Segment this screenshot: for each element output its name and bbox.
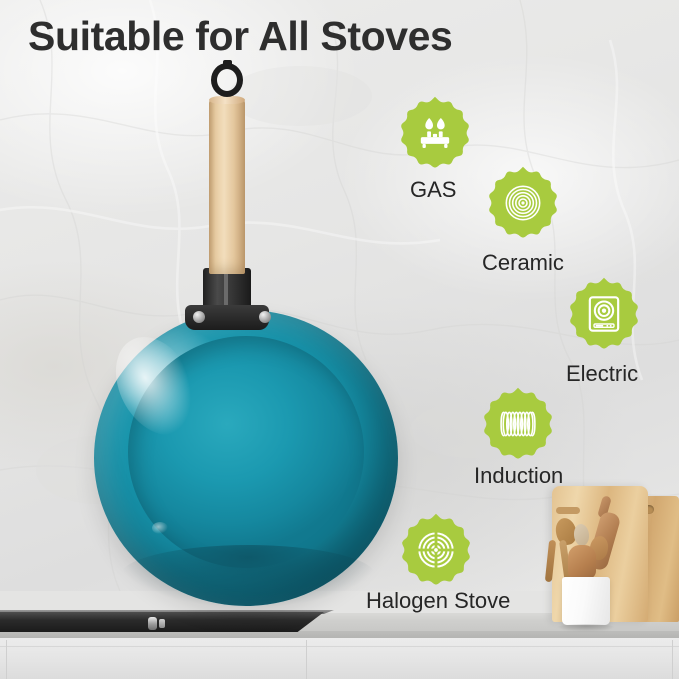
pan-rivet-left xyxy=(193,311,205,323)
badge-electric[interactable] xyxy=(567,277,641,351)
badge-ceramic[interactable] xyxy=(486,166,560,240)
product-image-stage: Suitable for All Stoves xyxy=(0,0,679,679)
electric-cooktop-icon xyxy=(584,294,624,334)
gas-burner-icon xyxy=(415,113,455,153)
badge-label-electric: Electric xyxy=(566,361,638,387)
badge-induction[interactable] xyxy=(481,387,555,461)
halogen-ring-icon xyxy=(416,530,456,570)
badge-halogen[interactable] xyxy=(399,513,473,587)
pan-highlight-small xyxy=(152,522,168,534)
induction-coil-icon xyxy=(498,404,538,444)
pan-bottom-shading xyxy=(120,545,376,607)
pan-rivet-right xyxy=(259,311,271,323)
badge-label-halogen: Halogen Stove xyxy=(366,588,510,614)
hanging-ring-tab xyxy=(223,60,232,69)
badge-label-gas: GAS xyxy=(410,177,456,203)
pan-wooden-handle xyxy=(209,98,245,274)
pan-handle-top-cap xyxy=(209,96,245,104)
badge-gas[interactable] xyxy=(398,96,472,170)
ceramic-rings-icon xyxy=(503,183,543,223)
badge-label-induction: Induction xyxy=(474,463,563,489)
badge-label-ceramic: Ceramic xyxy=(482,250,564,276)
